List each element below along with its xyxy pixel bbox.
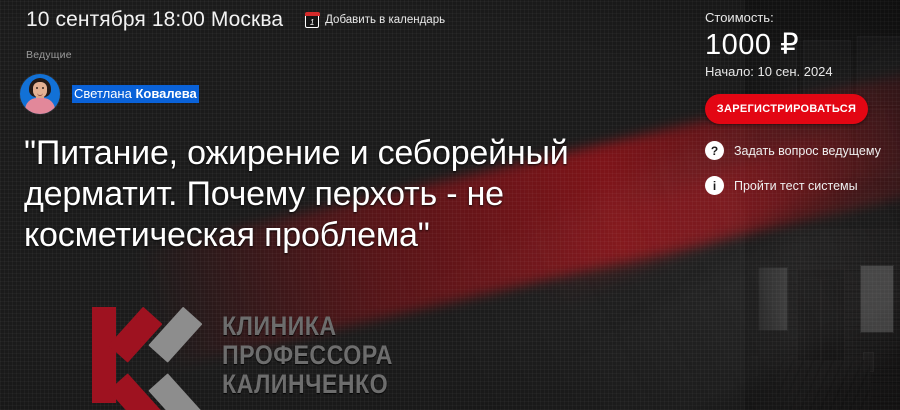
add-to-calendar-link[interactable]: 1 Добавить в календарь	[305, 13, 445, 28]
logo-mark-icon	[92, 305, 212, 405]
calendar-icon-day: 1	[306, 18, 318, 27]
logo-wordmark: КЛИНИКА ПРОФЕССОРА КАЛИНЧЕНКО	[222, 312, 393, 399]
page-title: "Питание, ожирение и себорейный дерматит…	[24, 133, 664, 256]
banner-content: 10 сентября 18:00 Москва 1 Добавить в ка…	[0, 0, 900, 410]
logo-line-1: КЛИНИКА	[222, 312, 393, 341]
avatar-eye-left	[36, 87, 38, 89]
host-first-name: Светлана	[74, 86, 135, 101]
register-button[interactable]: ЗАРЕГИСТРИРОВАТЬСЯ	[705, 94, 868, 124]
ask-question-label: Задать вопрос ведущему	[734, 144, 881, 158]
start-date-label: Начало: 10 сен. 2024	[705, 64, 833, 79]
logo-line-2: ПРОФЕССОРА	[222, 341, 393, 370]
date-row: 10 сентября 18:00 Москва 1 Добавить в ка…	[26, 7, 445, 33]
price-value: 1000 ₽	[705, 28, 799, 62]
event-datetime: 10 сентября 18:00 Москва	[26, 7, 283, 33]
add-to-calendar-label: Добавить в календарь	[325, 14, 445, 26]
avatar-body	[25, 98, 55, 114]
system-test-label: Пройти тест системы	[734, 179, 858, 193]
clinic-logo: КЛИНИКА ПРОФЕССОРА КАЛИНЧЕНКО	[92, 305, 421, 405]
webinar-banner: 10 сентября 18:00 Москва 1 Добавить в ка…	[0, 0, 900, 410]
host-row: Светлана Ковалева	[20, 74, 199, 114]
host-name-selected[interactable]: Светлана Ковалева	[72, 85, 199, 103]
logo-chevron-grey	[158, 307, 214, 403]
hosts-label: Ведущие	[26, 49, 72, 61]
avatar-eye-right	[42, 87, 44, 89]
question-mark-icon: ?	[705, 141, 724, 160]
calendar-icon: 1	[305, 13, 319, 28]
system-test-link[interactable]: i Пройти тест системы	[705, 176, 858, 195]
info-icon: i	[705, 176, 724, 195]
price-label: Стоимость:	[705, 10, 774, 25]
host-last-name: Ковалева	[135, 86, 196, 101]
logo-line-3: КАЛИНЧЕНКО	[222, 370, 393, 399]
ask-question-link[interactable]: ? Задать вопрос ведущему	[705, 141, 881, 160]
avatar	[20, 74, 60, 114]
